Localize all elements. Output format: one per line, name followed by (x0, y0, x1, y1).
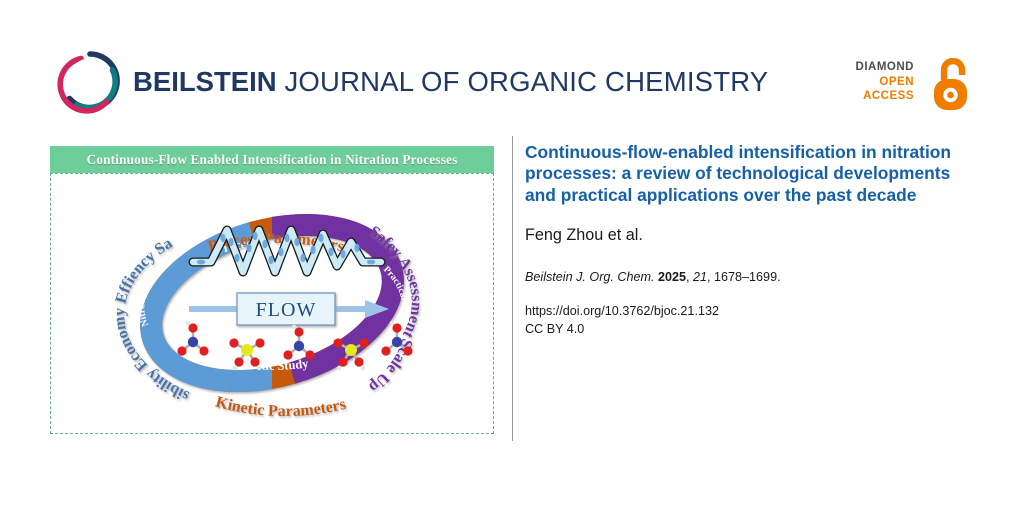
graphical-abstract-banner: Continuous-Flow Enabled Intensification … (50, 146, 494, 173)
article-doi-link[interactable]: https://doi.org/10.3762/bjoc.21.132 (525, 303, 975, 321)
open-lock-icon (930, 58, 976, 112)
journal-title: BEILSTEIN JOURNAL OF ORGANIC CHEMISTRY (133, 66, 768, 98)
column-divider (512, 136, 513, 441)
citation-year: 2025 (658, 270, 686, 284)
ring-label-kinetic-study: Kinetic Study (235, 355, 310, 373)
flow-label: FLOW (256, 299, 317, 321)
journal-title-bold: BEILSTEIN (133, 66, 277, 97)
article-license: CC BY 4.0 (525, 321, 975, 339)
beilstein-logo (57, 48, 123, 114)
badge-line-open: OPEN (856, 75, 914, 90)
citation-volume: 21 (693, 270, 707, 284)
badge-line-access: ACCESS (856, 89, 914, 104)
article-title: Continuous-flow-enabled intensification … (525, 142, 959, 206)
graphical-abstract-figure: Process Development Practical Applicatio… (50, 173, 494, 434)
nitric-acid-molecule (283, 325, 314, 360)
citation-pages: 1678–1699. (714, 270, 781, 284)
article-authors: Feng Zhou et al. (525, 225, 975, 245)
journal-title-rest: JOURNAL OF ORGANIC CHEMISTRY (277, 66, 769, 97)
badge-line-diamond: DIAMOND (856, 60, 914, 75)
graphical-abstract: Continuous-Flow Enabled Intensification … (50, 146, 494, 434)
nitration-cycle-diagram: Process Development Practical Applicatio… (51, 174, 493, 433)
article-meta: Continuous-flow-enabled intensification … (525, 142, 975, 338)
masthead: BEILSTEIN JOURNAL OF ORGANIC CHEMISTRY D… (0, 0, 1024, 130)
open-access-badge: DIAMOND OPEN ACCESS (866, 58, 976, 114)
flow-indicator: FLOW (189, 293, 389, 325)
nitric-acid-molecule (177, 321, 208, 356)
article-citation: Beilstein J. Org. Chem. 2025, 21, 1678–1… (525, 269, 975, 286)
open-access-text: DIAMOND OPEN ACCESS (856, 60, 914, 104)
outer-label-kinetic-parameters: Kinetic Parameters (214, 394, 348, 420)
citation-journal: Beilstein J. Org. Chem. (525, 270, 654, 284)
article-doi-block: https://doi.org/10.3762/bjoc.21.132 CC B… (525, 303, 975, 338)
